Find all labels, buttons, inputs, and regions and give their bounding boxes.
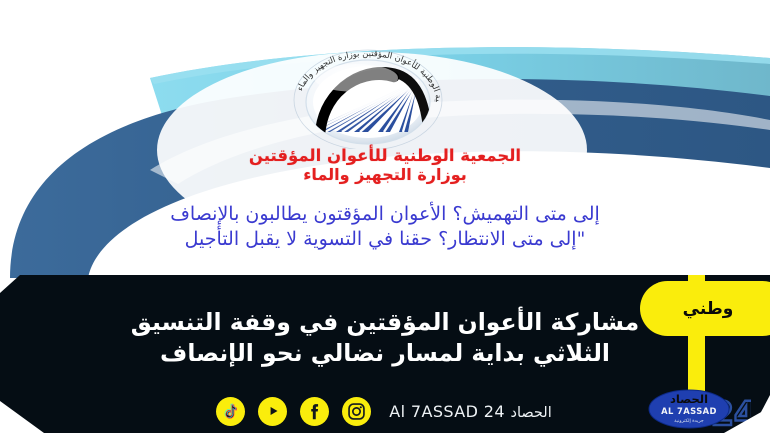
header-section: الجمعية الوطنية للأعوان المؤقتين بوزارة …: [0, 0, 770, 278]
social-handle-latin: Al 7ASSAD 24: [389, 402, 505, 421]
headline-line1: مشاركة الأعوان المؤقتين في وقفة التنسيق: [131, 308, 639, 336]
watani-badge-label: وطني: [683, 299, 748, 319]
facebook-icon[interactable]: [300, 397, 329, 426]
tiktok-icon[interactable]: [216, 397, 245, 426]
association-slogan: إلى متى التهميش؟ الأعوان المؤقتون يطالبو…: [0, 202, 770, 252]
watani-badge: وطني: [640, 281, 770, 336]
association-title-line1: الجمعية الوطنية للأعوان المؤقتين: [249, 146, 521, 165]
slogan-line1: إلى متى التهميش؟ الأعوان المؤقتون يطالبو…: [170, 203, 600, 225]
news-card: الجمعية الوطنية للأعوان المؤقتين بوزارة …: [0, 0, 770, 433]
social-handle: Al 7ASSAD 24 الحصاد: [389, 402, 554, 421]
brandmark-latin: AL 7ASSAD: [661, 406, 717, 416]
al-7assad-brandmark: 24 الحصاد AL 7ASSAD جريدة إلكترونية: [645, 385, 751, 433]
brandmark-arabic: الحصاد: [670, 392, 708, 406]
brandmark-tagline: جريدة إلكترونية: [674, 418, 704, 424]
social-handle-arabic: الحصاد: [510, 405, 551, 421]
youtube-icon[interactable]: [258, 397, 287, 426]
association-title: الجمعية الوطنية للأعوان المؤقتين بوزارة …: [0, 146, 770, 184]
headline-line2: الثلاثي بداية لمسار نضالي نحو الإنصاف: [6, 338, 764, 369]
arch-bridge-logo: الجمعية الوطنية للأعوان المؤقتين بوزارة …: [268, 44, 468, 149]
instagram-icon[interactable]: [342, 397, 371, 426]
association-title-line2: بوزارة التجهيز والماء: [0, 165, 770, 184]
slogan-line2: "إلى متى الانتظار؟ حقنا في التسوية لا يق…: [0, 227, 770, 252]
